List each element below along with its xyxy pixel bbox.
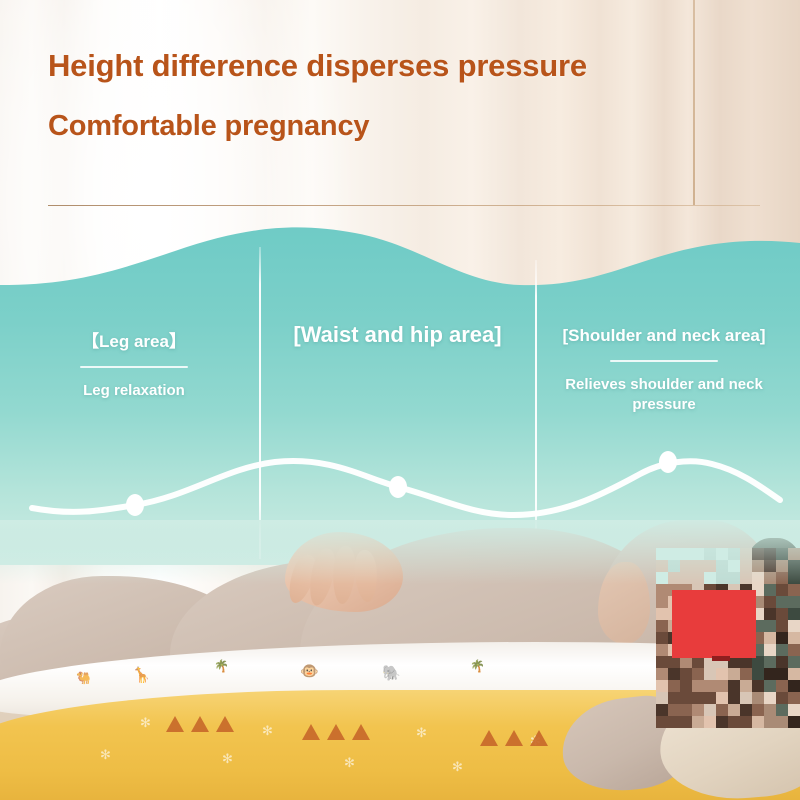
zone-leg-description: Leg relaxation: [20, 381, 248, 401]
zone-shoulder-title: [Shoulder and neck area]: [540, 326, 788, 346]
photo-top-fade: [0, 520, 800, 584]
zone-shoulder-description: Relieves shoulder and neck pressure: [540, 375, 788, 414]
zone-label-waist-hip-area: [Waist and hip area]: [265, 322, 530, 348]
zone-leg-underline: [80, 366, 188, 368]
headline-primary: Height difference disperses pressure: [48, 48, 587, 84]
zone-separator-right: [535, 260, 537, 560]
product-infographic-poster: Height difference disperses pressure Com…: [0, 0, 800, 800]
zone-waist-title: [Waist and hip area]: [265, 322, 530, 348]
zone-shoulder-underline: [610, 360, 718, 362]
censor-red-box: [672, 590, 756, 658]
product-photo: 🐫 🦒 🌴 🐵 🐘 🌴 ✻ ✻ ✻ ✻ ✻ ✻ ✻ ✻: [0, 520, 800, 800]
header-divider-rule: [48, 205, 760, 206]
pillow-triangle-motif: [302, 724, 370, 740]
pillow-triangle-motif: [480, 730, 548, 746]
headline-secondary: Comfortable pregnancy: [48, 110, 369, 143]
censor-red-box-shadow: [712, 656, 730, 661]
zone-leg-title: 【Leg area】: [20, 327, 248, 352]
zone-label-shoulder-neck-area: [Shoulder and neck area] Relieves should…: [540, 326, 788, 414]
zone-label-leg-area: 【Leg area】 Leg relaxation: [20, 327, 248, 401]
zone-separator-left: [259, 247, 261, 559]
wall-edge-line: [693, 0, 695, 205]
pillow-triangle-motif: [166, 716, 234, 732]
